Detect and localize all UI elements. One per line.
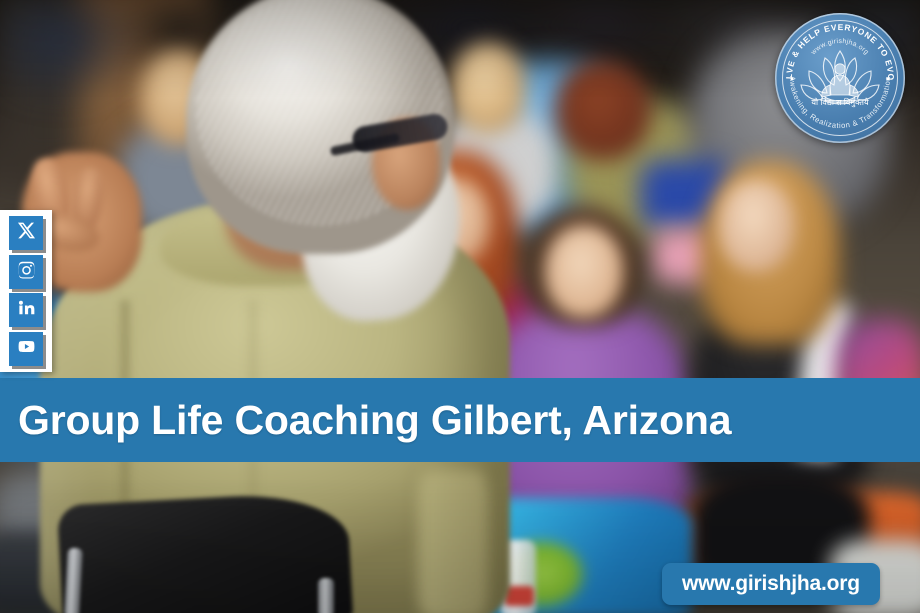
logo-artwork: EVOLVE & HELP EVERYONE TO EVOLVE www.gir… bbox=[775, 13, 905, 143]
youtube-icon bbox=[17, 337, 36, 361]
image-canvas: EVOLVE & HELP EVERYONE TO EVOLVE www.gir… bbox=[0, 0, 920, 613]
logo-sanskrit-text: यो विद्या स विमुक्तये bbox=[811, 97, 869, 108]
page-title: Group Life Coaching Gilbert, Arizona bbox=[0, 400, 731, 441]
brand-logo-badge[interactable]: EVOLVE & HELP EVERYONE TO EVOLVE www.gir… bbox=[775, 13, 905, 143]
logo-dot-left bbox=[791, 78, 794, 81]
website-url-pill[interactable]: www.girishjha.org bbox=[662, 563, 880, 605]
social-link-instagram[interactable] bbox=[9, 255, 43, 289]
social-link-youtube[interactable] bbox=[9, 332, 43, 366]
speaker-shirt-edge bbox=[418, 470, 488, 613]
chair-chrome-leg-2 bbox=[318, 578, 334, 613]
audience-auburn-head-top bbox=[555, 60, 651, 160]
logo-inner-url-text: www.girishjha.org bbox=[809, 38, 869, 57]
logo-dot-right bbox=[887, 78, 890, 81]
instagram-icon bbox=[17, 260, 36, 284]
social-link-linkedin[interactable] bbox=[9, 293, 43, 327]
black-chair-back bbox=[57, 490, 353, 613]
title-banner: Group Life Coaching Gilbert, Arizona bbox=[0, 378, 920, 462]
social-links-bar bbox=[0, 210, 52, 372]
audience-white-coat-head bbox=[450, 42, 526, 134]
audience-purple-sweater-face bbox=[545, 226, 623, 318]
linkedin-icon bbox=[17, 298, 36, 322]
x-twitter-icon bbox=[17, 221, 36, 245]
audience-blonde-face bbox=[718, 180, 794, 272]
social-link-x[interactable] bbox=[9, 216, 43, 250]
